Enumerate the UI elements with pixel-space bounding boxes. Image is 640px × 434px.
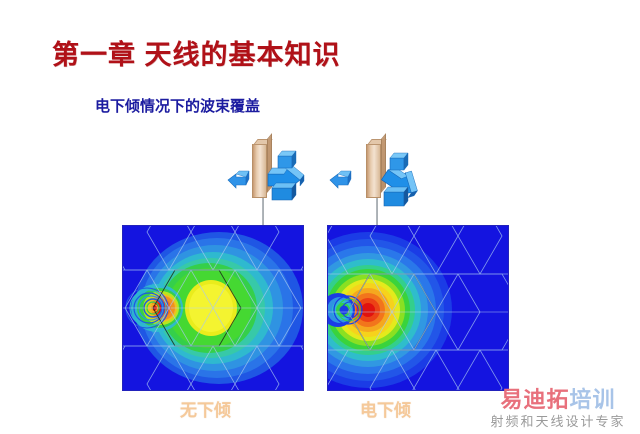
slide-subtitle: 电下倾情况下的波束覆盖: [95, 95, 260, 116]
watermark-brand: 易迪拓: [500, 387, 569, 412]
watermark: 易迪拓培训 射频和天线设计专家: [478, 388, 638, 431]
beam-arrows-horizontal-icon: [226, 134, 346, 229]
antenna-illustration-electrical-downtilt: [340, 134, 460, 229]
watermark-tagline: 射频和天线设计专家: [478, 413, 638, 431]
watermark-logo-text: 易迪拓培训: [478, 388, 638, 412]
antenna-illustration-no-downtilt: [226, 134, 346, 229]
coverage-plot-no-downtilt: [122, 225, 304, 391]
plot-caption-electrical-downtilt: 电下倾: [360, 396, 411, 421]
presentation-slide: 第一章 天线的基本知识 电下倾情况下的波束覆盖: [0, 0, 640, 434]
beam-arrows-downtilt-icon: [340, 134, 460, 229]
page-title: 第一章 天线的基本知识: [52, 33, 341, 72]
watermark-suffix: 培训: [570, 387, 616, 412]
plot-caption-no-downtilt: 无下倾: [180, 396, 231, 421]
coverage-plot-electrical-downtilt: [327, 225, 509, 391]
